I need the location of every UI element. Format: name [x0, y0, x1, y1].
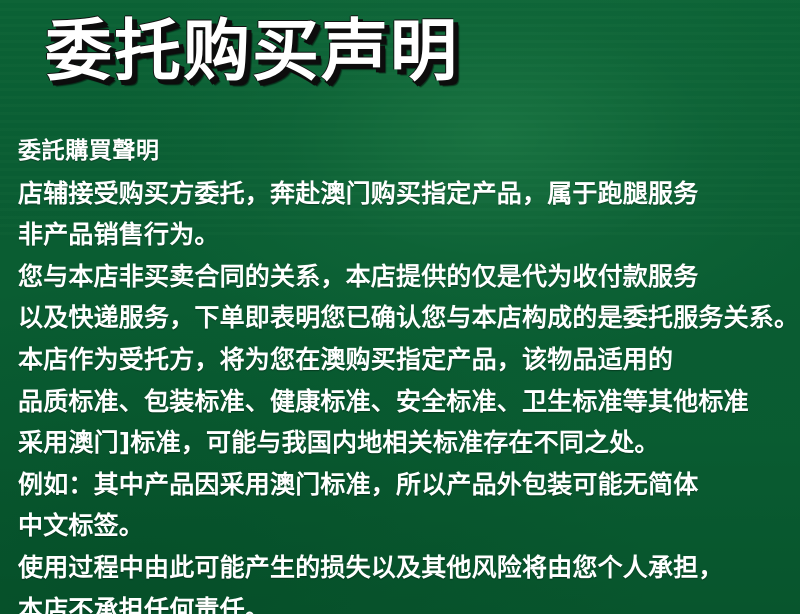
statement-line-9: 中文标签。	[18, 505, 800, 547]
statement-body: 委託購買聲明 店辅接受购买方委托，奔赴澳门购买指定产品，属于跑腿服务 非产品销售…	[18, 131, 800, 614]
statement-line-8: 例如：其中产品因采用澳门标准，所以产品外包装可能无简体	[18, 464, 800, 506]
page-title: 委托购买声明	[45, 14, 745, 88]
statement-line-heading: 委託購買聲明	[18, 131, 800, 173]
statement-line-5: 本店作为受托方，将为您在澳购买指定产品，该物品适用的	[18, 339, 800, 381]
statement-line-3: 您与本店非买卖合同的关系，本店提供的仅是代为收付款服务	[18, 256, 800, 298]
statement-line-10: 使用过程中由此可能产生的损失以及其他风险将由您个人承担，	[18, 547, 800, 589]
statement-line-6: 品质标准、包装标准、健康标准、安全标准、卫生标准等其他标准	[18, 381, 800, 423]
purchase-agency-statement-banner: 委托购买声明 委託購買聲明 店辅接受购买方委托，奔赴澳门购买指定产品，属于跑腿服…	[0, 0, 800, 614]
statement-line-7: 采用澳门]标准，可能与我国内地相关标准存在不同之处。	[18, 422, 800, 464]
statement-line-4: 以及快递服务，下单即表明您已确认您与本店构成的是委托服务关系。	[18, 297, 800, 339]
statement-line-2: 非产品销售行为。	[18, 214, 800, 256]
statement-line-1: 店辅接受购买方委托，奔赴澳门购买指定产品，属于跑腿服务	[18, 173, 800, 215]
statement-line-11: 本店不承担任何责任。	[18, 589, 800, 614]
title-container: 委托购买声明	[45, 14, 745, 98]
